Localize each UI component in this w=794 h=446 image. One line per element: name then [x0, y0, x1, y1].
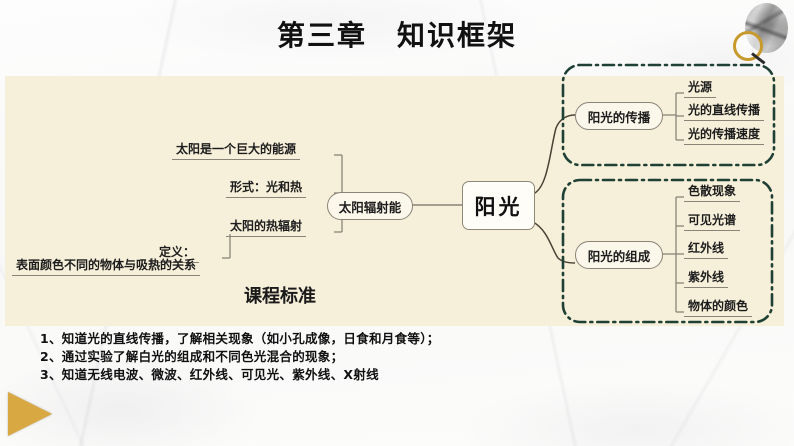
leaf-surface-color-heat-relation[interactable]: 表面颜色不同的物体与吸热的关系 — [12, 258, 200, 276]
leaf-visible-spectrum[interactable]: 可见光谱 — [684, 213, 740, 231]
node-sunlight-center[interactable]: 阳光 — [462, 181, 535, 230]
leaf-solar-thermal-radiation[interactable]: 太阳的热辐射 — [226, 219, 306, 237]
leaf-speed-of-light[interactable]: 光的传播速度 — [684, 127, 764, 145]
leaf-dispersion-phenomenon[interactable]: 色散现象 — [684, 184, 740, 202]
leaf-infrared[interactable]: 红外线 — [684, 241, 728, 259]
standards-heading: 课程标准 — [0, 282, 560, 308]
node-solar-radiation-energy[interactable]: 太阳辐射能 — [327, 192, 413, 220]
leaf-light-source[interactable]: 光源 — [684, 80, 716, 98]
standards-item-3: 3、知道无线电波、微波、红外线、可见光、紫外线、X射线 — [40, 366, 740, 384]
standards-list: 1、知道光的直线传播，了解相关现象（如小孔成像，日食和月食等）； 2、通过实验了… — [40, 330, 740, 384]
leaf-object-color[interactable]: 物体的颜色 — [684, 299, 752, 317]
leaf-form-light-heat[interactable]: 形式：光和热 — [226, 180, 306, 198]
standards-item-2: 2、通过实验了解白光的组成和不同色光混合的现象； — [40, 348, 740, 366]
slide-canvas: 第三章 知识框架 — [0, 0, 794, 446]
leaf-sun-energy-source[interactable]: 太阳是一个巨大的能源 — [172, 142, 300, 160]
leaf-rectilinear-propagation[interactable]: 光的直线传播 — [684, 103, 764, 121]
node-sunlight-propagation[interactable]: 阳光的传播 — [575, 102, 663, 130]
leaf-ultraviolet[interactable]: 紫外线 — [684, 270, 728, 288]
gold-triangle-icon — [8, 392, 52, 436]
page-title: 第三章 知识框架 — [0, 14, 794, 54]
standards-item-1: 1、知道光的直线传播，了解相关现象（如小孔成像，日食和月食等）； — [40, 330, 740, 348]
node-sunlight-composition[interactable]: 阳光的组成 — [575, 241, 663, 269]
